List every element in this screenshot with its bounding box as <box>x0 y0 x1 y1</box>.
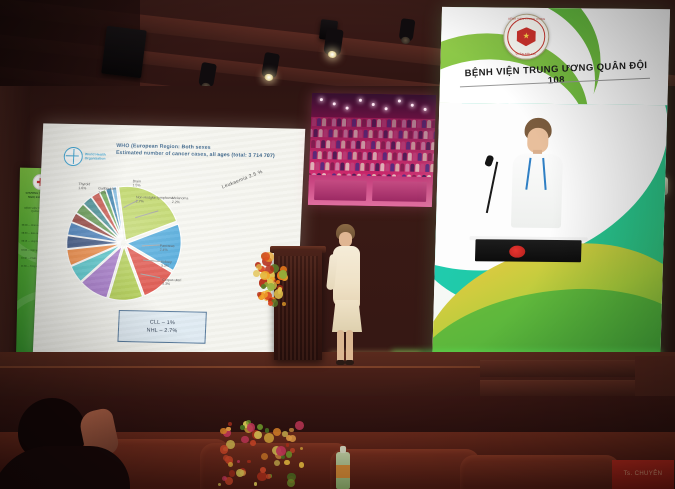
center-video-panel <box>308 93 436 207</box>
speaker-leg <box>346 330 353 363</box>
right-led-screen: BỆNH VIỆN TRUNG ƯƠNG ★ QUÂN ĐỘI 108 BỆNH… <box>432 7 670 371</box>
audience-person <box>408 153 412 161</box>
audience-person <box>423 153 427 161</box>
audience-person <box>331 140 335 148</box>
stage-light-icon <box>323 28 343 56</box>
audience-person <box>335 162 339 170</box>
audience-person <box>353 130 357 138</box>
feed-podium <box>475 239 582 262</box>
flower-petal <box>261 252 270 261</box>
audience-person <box>378 152 382 160</box>
speaker-shoe <box>345 360 354 365</box>
flower-petal <box>279 270 287 278</box>
pie-label-value: 2.2% <box>172 200 189 205</box>
audience-person <box>392 119 396 127</box>
audience-person <box>428 153 432 161</box>
audience-person <box>398 152 402 160</box>
audience-person <box>393 152 397 160</box>
audience-person <box>391 141 395 149</box>
projected-slide: World Health Organization WHO (European … <box>33 123 306 360</box>
audience-person <box>356 141 360 149</box>
audience-person <box>373 152 377 160</box>
audience-person <box>373 130 377 138</box>
audience-person <box>333 151 337 159</box>
speaker-skirt <box>332 300 362 332</box>
audience-person <box>310 162 314 170</box>
audience-person <box>410 164 414 172</box>
audience-person <box>365 163 369 171</box>
audience-person <box>366 141 370 149</box>
audience-person <box>418 153 422 161</box>
conference-photo-scene: CHƯƠNG TRÌNH HỘI NGHỊ KHOA HỌC BỆNH VIỆN… <box>0 0 675 489</box>
audience-person <box>352 119 356 127</box>
flower-petal <box>223 455 229 461</box>
audience-person <box>323 129 327 137</box>
feed-desk <box>372 181 427 202</box>
flower-petal <box>266 474 271 479</box>
audience-person <box>385 163 389 171</box>
audience-person <box>353 152 357 160</box>
audience-person <box>343 151 347 159</box>
audience-person <box>423 131 427 139</box>
audience-person <box>313 151 317 159</box>
audience-person <box>405 164 409 172</box>
audience-person <box>348 130 352 138</box>
flower-petal <box>299 462 304 467</box>
pie-label-value: 1.2% <box>98 191 116 196</box>
flower-petal <box>261 291 268 298</box>
audience-person <box>408 131 412 139</box>
audience-person <box>403 153 407 161</box>
stage-speaker-figure <box>324 224 366 364</box>
audience-person <box>330 162 334 170</box>
flower-petal <box>286 451 292 457</box>
audience-person <box>422 120 426 128</box>
audience-person <box>388 130 392 138</box>
audience-person <box>368 130 372 138</box>
flower-petal <box>276 280 280 284</box>
foreground-name-plate-text: Ts. CHUYÊN <box>612 460 674 489</box>
audience-person <box>402 120 406 128</box>
ceiling-speaker-box <box>101 26 147 79</box>
pie-chart-svg <box>51 172 197 315</box>
flower-petal <box>278 287 282 291</box>
flower-petal <box>300 447 303 450</box>
feed-speaker-figure <box>507 118 567 249</box>
audience-person <box>351 141 355 149</box>
flower-petal <box>247 460 251 464</box>
who-emblem-icon <box>63 146 83 165</box>
audience-person <box>397 119 401 127</box>
audience-person <box>387 119 391 127</box>
pie-label-value: 3.3% <box>162 282 181 287</box>
emblem-star-icon: ★ <box>523 32 530 40</box>
flower-petal <box>286 443 289 446</box>
audience-person <box>377 119 381 127</box>
audience-person <box>325 162 329 170</box>
pie-label-value: 1.5% <box>132 184 140 189</box>
flower-petal <box>220 445 229 454</box>
flower-petal <box>253 270 260 277</box>
led-video-feed <box>432 103 667 371</box>
flower-petal <box>229 470 235 476</box>
audience-person <box>332 118 336 126</box>
flower-petal <box>261 453 268 460</box>
audience-person <box>313 129 317 137</box>
flower-petal <box>218 483 221 486</box>
audience-person <box>312 118 316 126</box>
audience-person <box>380 163 384 171</box>
flower-petal <box>295 421 304 430</box>
audience-person <box>315 162 319 170</box>
flower-petal <box>228 422 232 426</box>
audience-person <box>386 141 390 149</box>
flower-petal <box>282 302 286 306</box>
audience-person <box>358 152 362 160</box>
pie-label: Gallbladder1.2% <box>98 187 116 196</box>
audience-person <box>393 130 397 138</box>
audience-person <box>378 130 382 138</box>
audience-person <box>427 120 431 128</box>
audience-person <box>418 131 422 139</box>
flower-petal <box>276 446 286 456</box>
audience-person <box>338 151 342 159</box>
audience-person <box>336 140 340 148</box>
audience-person <box>407 120 411 128</box>
audience-person <box>318 129 322 137</box>
audience-person <box>361 141 365 149</box>
audience-person <box>358 130 362 138</box>
water-bottle <box>336 452 350 489</box>
audience-person <box>363 130 367 138</box>
audience-person <box>363 152 367 160</box>
audience-person <box>360 163 364 171</box>
audience-person <box>413 131 417 139</box>
audience-person <box>322 118 326 126</box>
flower-petal <box>241 436 248 443</box>
speaker-leg <box>337 330 344 363</box>
audience-person <box>390 163 394 171</box>
audience-person <box>367 119 371 127</box>
flower-petal <box>228 462 233 467</box>
flower-petal <box>257 424 263 430</box>
slide-title: WHO (European Region: Both sexes Estimat… <box>116 143 297 161</box>
audience-person <box>333 129 337 137</box>
audience-person <box>337 118 341 126</box>
audience-person <box>357 119 361 127</box>
audience-person <box>388 152 392 160</box>
flower-petal <box>237 460 240 463</box>
audience-person <box>406 142 410 150</box>
audience-person <box>412 120 416 128</box>
audience-person <box>362 119 366 127</box>
audience-person <box>340 162 344 170</box>
audience-person <box>396 141 400 149</box>
flower-petal <box>267 283 275 291</box>
foreground-name-plate: Ts. CHUYÊN <box>612 460 674 489</box>
audience-person <box>401 142 405 150</box>
pie-label: Corpus uteri3.3% <box>162 278 181 287</box>
audience-feed-image <box>308 93 436 207</box>
pie-label: Pancreas2.4% <box>160 244 175 253</box>
audience-person <box>328 129 332 137</box>
audience-person <box>420 164 424 172</box>
audience-person <box>346 141 350 149</box>
who-logo-text: World Health Organization <box>85 152 108 161</box>
flower-petal <box>287 479 295 487</box>
flower-petal <box>265 428 269 432</box>
flower-petal <box>236 469 244 477</box>
table-bouquet <box>215 418 305 489</box>
foreground-person-silhouette <box>0 398 120 489</box>
audience-seat <box>460 455 620 489</box>
audience-person <box>321 140 325 148</box>
flower-petal <box>226 427 231 432</box>
speaker-shoe <box>336 360 345 365</box>
pie-label: Melanoma2.2% <box>172 196 189 205</box>
emblem-bottom-text: QUÂN ĐỘI 108 <box>504 53 548 56</box>
flower-petal <box>254 482 258 486</box>
flower-petal <box>250 440 256 446</box>
audience-person <box>347 119 351 127</box>
pie-label: Kidney3.3% <box>161 260 172 269</box>
pie-label-value: 2.7% <box>136 200 174 205</box>
flower-petal <box>274 460 280 466</box>
speaker-face <box>339 232 352 247</box>
audience-person <box>425 164 429 172</box>
pie-label: Non-Hodgkin lymphoma2.7% <box>136 195 174 205</box>
audience-person <box>338 129 342 137</box>
audience-seat <box>330 449 480 489</box>
audience-person <box>350 163 354 171</box>
legend-box: CLL – 1% NHL – 2.7% <box>117 310 206 344</box>
stage-light-icon <box>198 62 217 88</box>
flower-petal <box>284 460 289 465</box>
audience-person <box>415 164 419 172</box>
flower-petal <box>254 431 262 439</box>
audience-person <box>348 152 352 160</box>
audience-person <box>342 118 346 126</box>
pie-label: Brain1.5% <box>132 179 141 188</box>
audience-person <box>345 163 349 171</box>
silhouette-shoulder <box>0 446 130 489</box>
audience-person <box>326 140 330 148</box>
audience-person <box>327 118 331 126</box>
audience-person <box>317 118 321 126</box>
audience-person <box>416 142 420 150</box>
audience-person <box>370 163 374 171</box>
pie-label-value: 3.3% <box>161 264 172 269</box>
legend-line-nhl: NHL – 2.7% <box>146 328 177 335</box>
audience-person <box>428 131 432 139</box>
audience-person <box>376 141 380 149</box>
audience-person <box>328 151 332 159</box>
audience-person <box>371 141 375 149</box>
flower-petal <box>261 284 266 289</box>
pie-chart <box>51 172 197 315</box>
audience-person <box>372 119 376 127</box>
audience-person <box>383 130 387 138</box>
audience-person <box>320 162 324 170</box>
audience-person <box>417 120 421 128</box>
flower-petal <box>264 433 274 443</box>
audience-person <box>398 130 402 138</box>
pie-label: Thyroid1.6% <box>78 182 90 191</box>
pie-label-value: 1.6% <box>78 187 90 192</box>
audience-person <box>382 119 386 127</box>
led-header: BỆNH VIỆN TRUNG ƯƠNG ★ QUÂN ĐỘI 108 BỆNH… <box>439 7 670 105</box>
audience-person <box>311 140 315 148</box>
audience-person <box>375 163 379 171</box>
flower-petal <box>240 425 245 430</box>
audience-person <box>413 153 417 161</box>
audience-person <box>368 152 372 160</box>
pie-label-value: 2.4% <box>160 248 175 253</box>
audience-rows <box>309 117 435 181</box>
podium-floral-arrangement <box>252 252 288 308</box>
legend-line-cll: CLL – 1% <box>150 320 175 327</box>
audience-person <box>395 163 399 171</box>
stage-light-icon <box>399 18 416 42</box>
audience-person <box>403 131 407 139</box>
audience-person <box>355 163 359 171</box>
audience-person <box>421 142 425 150</box>
audience-person <box>426 142 430 150</box>
audience-person <box>381 141 385 149</box>
audience-person <box>383 152 387 160</box>
flower-petal <box>273 428 281 436</box>
audience-person <box>411 142 415 150</box>
audience-person <box>341 140 345 148</box>
flower-petal <box>260 467 266 473</box>
audience-person <box>318 151 322 159</box>
audience-person <box>323 151 327 159</box>
hospital-emblem-icon: BỆNH VIỆN TRUNG ƯƠNG ★ QUÂN ĐỘI 108 <box>503 14 550 60</box>
audience-person <box>343 130 347 138</box>
emblem-top-text: BỆNH VIỆN TRUNG ƯƠNG <box>505 18 549 21</box>
flower-petal <box>289 428 294 433</box>
who-logo: World Health Organization <box>63 146 108 167</box>
audience-person <box>316 140 320 148</box>
audience-person <box>400 163 404 171</box>
flower-petal <box>289 435 296 442</box>
feed-desk <box>314 180 367 201</box>
